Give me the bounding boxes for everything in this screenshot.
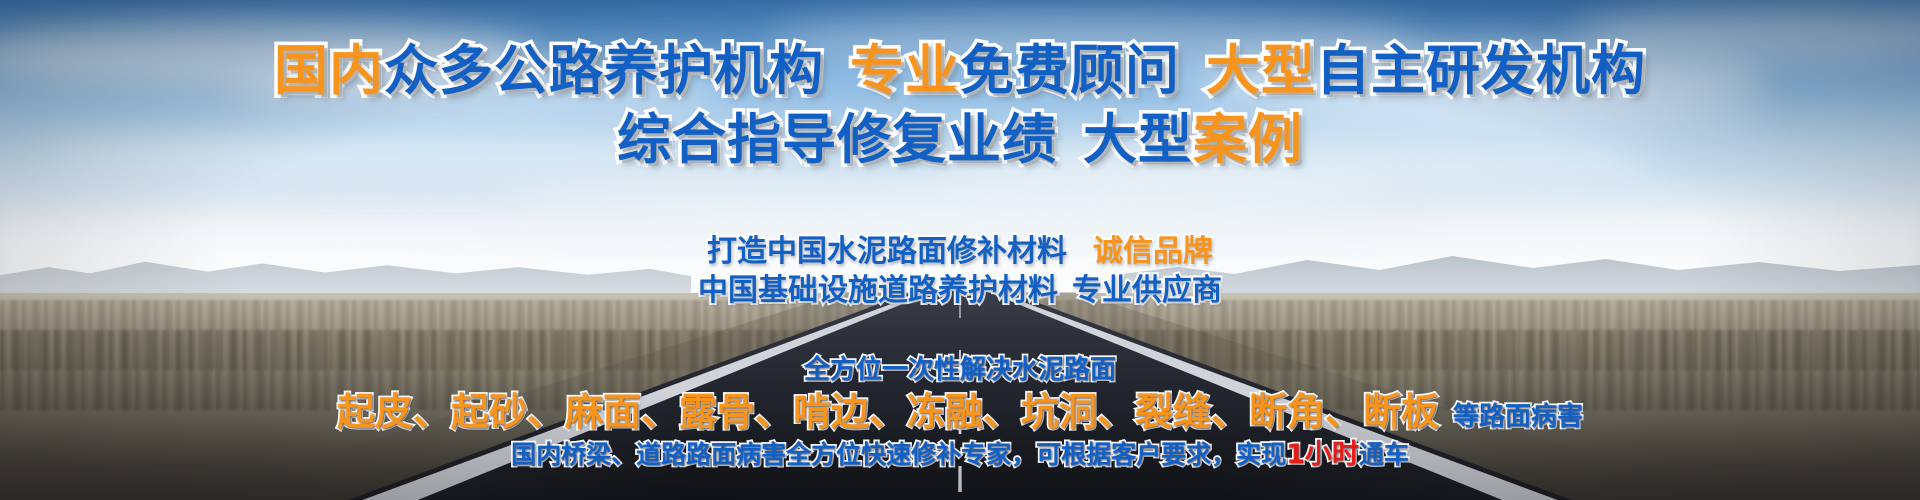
promotional-banner: 国内众多公路养护机构专业免费顾问大型自主研发机构 综合指导修复业绩大型案例 打造… bbox=[0, 0, 1920, 500]
headline-line-1: 国内众多公路养护机构专业免费顾问大型自主研发机构 bbox=[0, 44, 1920, 98]
headline-line-2: 综合指导修复业绩大型案例 bbox=[0, 113, 1920, 167]
headline2-seg-guidance: 综合指导修复业绩 bbox=[617, 108, 1057, 171]
mid-line2-supplier: 专业供应商 bbox=[1072, 273, 1222, 308]
headline1-seg-agencies: 众多公路养护机构 bbox=[384, 39, 824, 102]
headline2-seg-cases: 案例 bbox=[1193, 108, 1303, 171]
headline1-seg-free-consult: 免费顾问 bbox=[960, 39, 1180, 102]
bottom-line-1: 全方位一次性解决水泥路面 bbox=[0, 355, 1920, 387]
mid-line1-brand: 诚信品牌 bbox=[1093, 234, 1213, 269]
defect-list: 起皮、起砂、麻面、露骨、啃边、冻融、坑洞、裂缝、断角、断板 bbox=[337, 390, 1439, 434]
bottom-line3-tail: 通车 bbox=[1359, 440, 1409, 469]
bottom-line3-lead: 国内桥梁、道路路面病害全方位快速修补专家，可根据客户要求，实现 bbox=[511, 440, 1286, 469]
bottom-line1-text: 全方位一次性解决水泥路面 bbox=[804, 355, 1116, 385]
headline1-seg-domestic: 国内 bbox=[274, 39, 384, 102]
mid-tagline-line-2: 中国基础设施道路养护材料专业供应商 bbox=[0, 271, 1920, 310]
headline1-seg-large-scale: 大型 bbox=[1206, 39, 1316, 102]
bottom-line3-one-hour: 1小时 bbox=[1286, 439, 1359, 470]
mid-line1-main: 打造中国水泥路面修补材料 bbox=[707, 234, 1067, 269]
mid-line2-main: 中国基础设施道路养护材料 bbox=[698, 273, 1058, 308]
headline1-seg-rnd: 自主研发机构 bbox=[1316, 39, 1646, 102]
defect-list-suffix: 等路面病害 bbox=[1453, 402, 1583, 432]
mid-tagline-line-1: 打造中国水泥路面修补材料诚信品牌 bbox=[0, 232, 1920, 271]
bottom-line-3: 国内桥梁、道路路面病害全方位快速修补专家，可根据客户要求，实现1小时通车 bbox=[0, 439, 1920, 472]
bottom-line-2-defect-list: 起皮、起砂、麻面、露骨、啃边、冻融、坑洞、裂缝、断角、断板等路面病害 bbox=[0, 389, 1920, 435]
headline2-seg-large: 大型 bbox=[1083, 108, 1193, 171]
mid-tagline-block: 打造中国水泥路面修补材料诚信品牌 中国基础设施道路养护材料专业供应商 bbox=[0, 232, 1920, 310]
headline1-seg-professional: 专业 bbox=[850, 39, 960, 102]
bottom-feature-block: 全方位一次性解决水泥路面 起皮、起砂、麻面、露骨、啃边、冻融、坑洞、裂缝、断角、… bbox=[0, 355, 1920, 472]
banner-text-content: 国内众多公路养护机构专业免费顾问大型自主研发机构 综合指导修复业绩大型案例 打造… bbox=[0, 0, 1920, 500]
